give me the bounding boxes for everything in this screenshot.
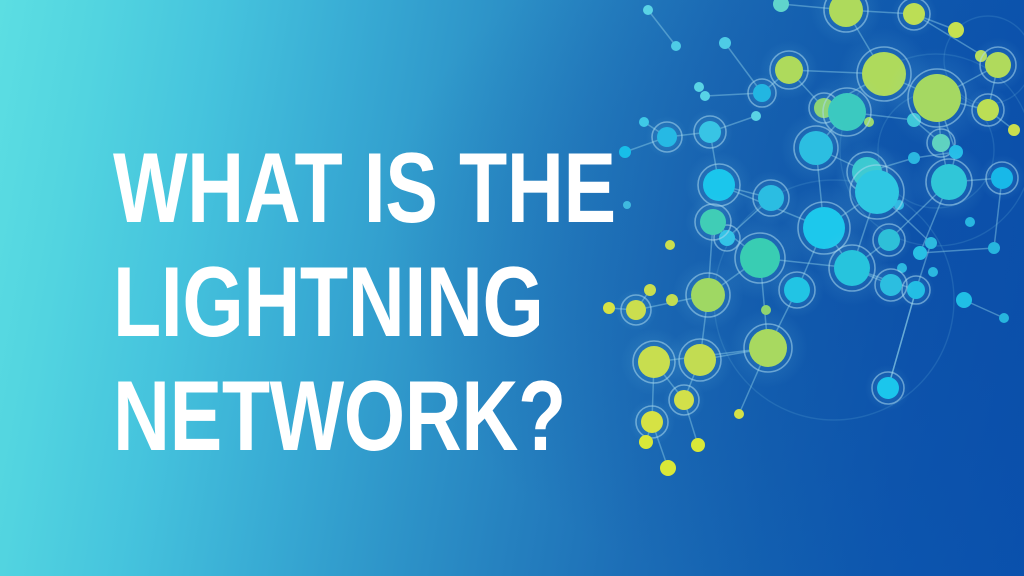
network-node: [1008, 124, 1020, 136]
node-core: [991, 167, 1013, 189]
network-node: [646, 116, 688, 158]
network-node: [868, 262, 914, 308]
node-core: [665, 240, 675, 250]
network-node: [623, 201, 631, 209]
node-core: [641, 411, 663, 433]
node-core: [931, 164, 967, 200]
network-node: [700, 91, 710, 101]
node-core: [657, 127, 677, 147]
node-core: [913, 246, 927, 260]
node-core: [700, 91, 710, 101]
network-node: [728, 308, 808, 388]
node-core: [913, 74, 961, 122]
node-core: [623, 201, 631, 209]
network-node: [619, 146, 631, 158]
network-node: [643, 5, 653, 15]
headline-line-2: LIGHTNING: [113, 242, 516, 363]
node-core: [1008, 124, 1020, 136]
network-node: [691, 438, 705, 452]
node-core: [749, 329, 787, 367]
network-nodes-illustration: [584, 0, 1024, 500]
node-core: [619, 146, 631, 158]
network-node: [948, 22, 964, 38]
network-node: [719, 37, 731, 49]
network-link: [648, 10, 676, 46]
network-node: [660, 460, 676, 476]
node-core: [700, 209, 726, 235]
node-core: [643, 5, 653, 15]
network-node: [615, 289, 657, 331]
network-node: [671, 41, 681, 51]
node-core: [965, 217, 975, 227]
node-core: [903, 3, 925, 25]
node-core: [948, 22, 964, 38]
node-core: [877, 377, 899, 399]
node-core: [626, 300, 646, 320]
node-core: [799, 131, 833, 165]
node-core: [639, 117, 649, 127]
node-core: [834, 250, 870, 286]
node-core: [671, 41, 681, 51]
network-node: [925, 237, 937, 249]
network-node: [913, 246, 927, 260]
node-core: [753, 84, 771, 102]
network-node: [971, 38, 1024, 93]
node-core: [784, 277, 810, 303]
network-node: [965, 87, 1011, 133]
node-core: [638, 346, 670, 378]
network-node: [639, 117, 649, 127]
node-core: [977, 99, 999, 121]
node-core: [719, 37, 731, 49]
node-core: [775, 56, 803, 84]
headline-line-1: WHAT IS THE: [113, 128, 516, 249]
network-node: [999, 313, 1009, 323]
node-core: [691, 438, 705, 452]
node-core: [699, 121, 721, 143]
node-core: [999, 313, 1009, 323]
node-core: [694, 82, 704, 92]
node-core: [878, 229, 900, 251]
network-node: [603, 302, 615, 314]
network-node: [928, 267, 938, 277]
network-node: [761, 305, 771, 315]
node-core: [734, 409, 744, 419]
network-node: [666, 294, 678, 306]
node-core: [880, 274, 902, 296]
network-node: [672, 259, 743, 330]
network-node: [911, 144, 987, 220]
network-node: [866, 217, 912, 263]
node-core: [660, 460, 676, 476]
network-node: [743, 74, 781, 112]
network-node: [965, 217, 975, 227]
network-node: [773, 0, 789, 12]
headline-line-3: NETWORK?: [113, 356, 516, 477]
network-node: [639, 435, 653, 449]
node-core: [751, 111, 761, 121]
node-core: [639, 435, 653, 449]
network-node: [988, 242, 1000, 254]
node-core: [758, 185, 784, 211]
node-core: [761, 305, 771, 315]
slide-canvas: WHAT IS THE LIGHTNING NETWORK?: [0, 0, 1024, 576]
node-core: [773, 0, 789, 12]
network-node: [865, 365, 911, 411]
node-core: [928, 267, 938, 277]
network-node: [734, 409, 744, 419]
node-core: [988, 242, 1000, 254]
node-core: [603, 302, 615, 314]
network-node: [694, 82, 704, 92]
page-title: WHAT IS THE LIGHTNING NETWORK?: [113, 131, 593, 473]
network-node: [979, 155, 1024, 201]
node-core: [956, 292, 972, 308]
node-core: [740, 238, 780, 278]
node-core: [674, 390, 694, 410]
network-node: [687, 109, 733, 155]
network-node-layer: [603, 0, 1024, 476]
node-core: [925, 237, 937, 249]
network-node: [956, 292, 972, 308]
network-node: [751, 111, 761, 121]
node-core: [691, 278, 725, 312]
node-core: [684, 344, 716, 376]
network-node: [665, 240, 675, 250]
network-node: [629, 399, 675, 445]
node-core: [985, 52, 1011, 78]
node-core: [666, 294, 678, 306]
